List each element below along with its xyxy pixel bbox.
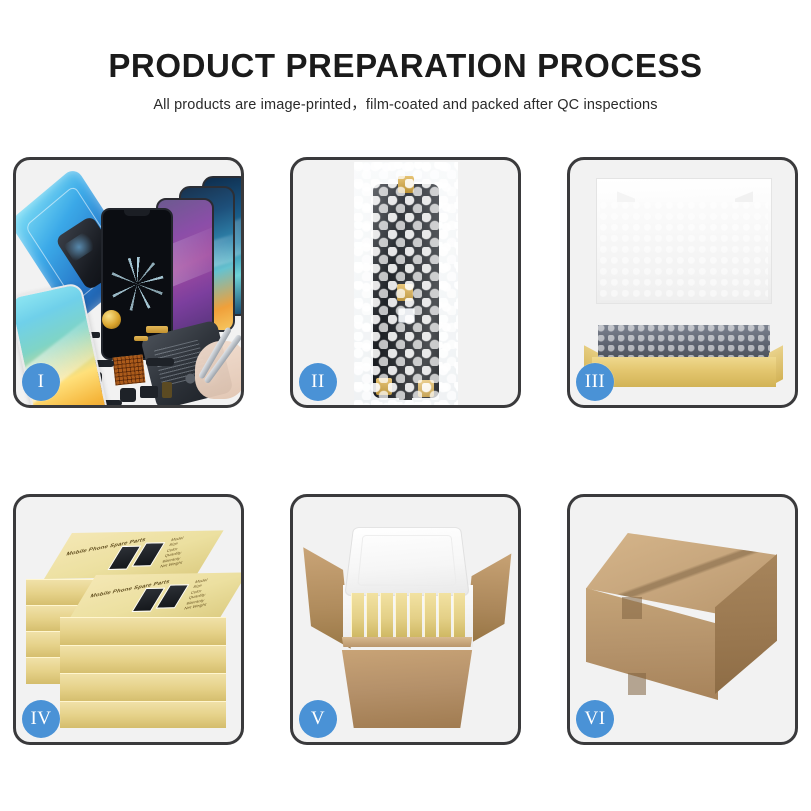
gold-box-lid-second: Mobile Phone Spare Parts Model Size Colo…	[68, 572, 241, 621]
phone-notch-icon	[124, 210, 150, 216]
step-panel-sealed-carton[interactable]: VI	[567, 494, 798, 745]
flex-cable-gold-icon	[146, 326, 168, 333]
plastic-sheen-overlay	[354, 162, 458, 405]
step-badge-3: III	[576, 363, 614, 401]
step-panel-boxes-stacked[interactable]: Mobile Phone Spare Parts Model Size Colo…	[13, 494, 244, 745]
vibrator-motor-icon	[102, 310, 121, 329]
stacked-box-edge	[60, 617, 226, 646]
gold-box-slab	[453, 593, 466, 639]
button-flex-icon	[146, 358, 174, 366]
gold-box-slab	[409, 593, 422, 639]
page-title: PRODUCT PREPARATION PROCESS	[0, 0, 811, 86]
step-panel-carton-loading[interactable]: V	[290, 494, 521, 745]
step-badge-4: IV	[22, 700, 60, 738]
copper-mesh-part-icon	[113, 355, 146, 386]
speaker-module-icon	[140, 386, 158, 398]
box-spec-text: Model Size Color Quantity Warranty Net W…	[159, 533, 194, 569]
step-badge-2: II	[299, 363, 337, 401]
foam-lid-icon	[344, 527, 470, 596]
process-steps-grid: I II	[13, 157, 799, 745]
flex-cable-gold-small-icon	[134, 336, 148, 341]
gold-box-front-icon	[592, 357, 776, 387]
step-badge-5: V	[299, 700, 337, 738]
gold-box-slab	[366, 593, 379, 639]
carton-tape-lower-icon	[628, 673, 646, 695]
step-badge-6: VI	[576, 700, 614, 738]
battery-connector-icon	[162, 382, 172, 398]
gold-box-slab	[438, 593, 451, 639]
gold-box-stack-icon: Mobile Phone Spare Parts Model Size Colo…	[24, 517, 236, 729]
stacked-box-edge	[60, 645, 226, 674]
step-badge-1: I	[22, 363, 60, 401]
gold-box-slab	[351, 593, 364, 639]
gold-box-slab	[424, 593, 437, 639]
gold-box-lid-top: Mobile Phone Spare Parts Model Size Colo…	[44, 530, 224, 579]
step-panel-bubble-wrapped-screen[interactable]: II	[290, 157, 521, 408]
gold-box-slab	[395, 593, 408, 639]
stacked-box-edge	[60, 673, 226, 702]
gold-boxes-inside-icon	[351, 593, 465, 639]
bubble-wrapped-contents-icon	[598, 325, 770, 361]
carton-front-panel-icon	[333, 650, 481, 728]
bubble-wrap-bag-icon	[354, 162, 458, 405]
step-panel-single-box-packing[interactable]: III	[567, 157, 798, 408]
step-panel-parts-assortment[interactable]: I	[13, 157, 244, 408]
carton-tape-upper-icon	[622, 597, 642, 619]
gold-box-slab	[380, 593, 393, 639]
page-subtitle: All products are image-printed，film-coat…	[0, 86, 811, 115]
page-header: PRODUCT PREPARATION PROCESS All products…	[0, 0, 811, 115]
camera-module-icon	[120, 388, 136, 402]
stacked-box-edge	[60, 701, 226, 728]
box-inner-wall-icon	[600, 202, 768, 300]
carton-rim-icon	[333, 637, 481, 647]
box-spec-text: Model Size Color Quantity Warranty Net W…	[183, 575, 218, 611]
